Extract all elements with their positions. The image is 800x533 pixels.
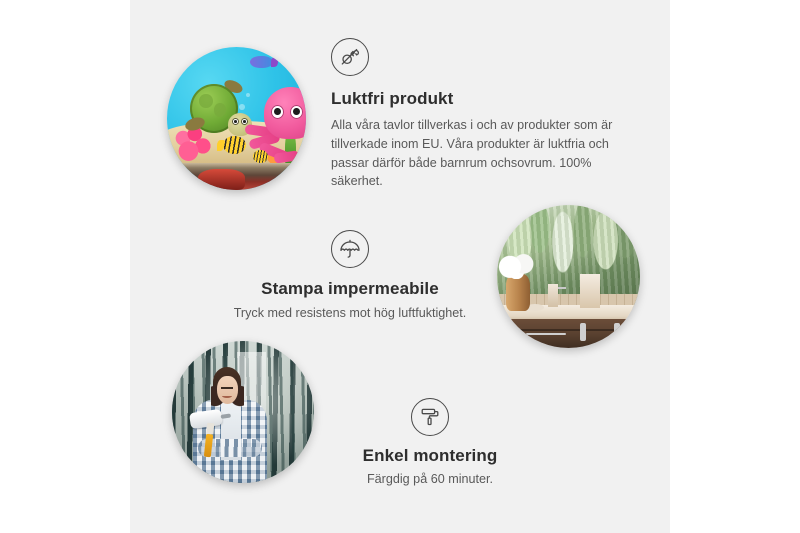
underwater-scene <box>167 47 306 190</box>
eyes <box>221 387 233 389</box>
cabinet-handle <box>526 333 566 334</box>
feature-title: Luktfri produkt <box>331 88 631 109</box>
infographic-page: Luktfri produkt Alla våra tavlor tillver… <box>0 0 800 533</box>
sea-turtle-icon <box>186 84 253 144</box>
feature-odorless: Luktfri produkt Alla våra tavlor tillver… <box>331 38 631 191</box>
wood-cabinet <box>497 319 640 348</box>
octopus-eye <box>271 105 285 120</box>
product-photo-forest <box>172 341 314 483</box>
feature-body: Tryck med resistens mot hög luftfuktighe… <box>205 304 495 323</box>
feature-body: Färgdig på 60 minuter. <box>300 470 560 489</box>
smile <box>222 393 232 397</box>
forest-scene <box>172 341 314 483</box>
feature-title: Stampa impermeabile <box>205 278 495 299</box>
paint-roller-icon <box>411 398 449 436</box>
decor-jar <box>580 274 600 308</box>
octopus-head <box>264 87 306 139</box>
feature-body: Alla våra tavlor tillverkas i och av pro… <box>331 116 631 191</box>
photo-bottom-strip <box>167 163 306 190</box>
octopus-eye <box>290 105 304 120</box>
turtle-eye <box>232 118 239 125</box>
blue-fish-icon <box>250 56 272 69</box>
umbrella-icon <box>331 230 369 268</box>
woman-figure <box>192 367 272 483</box>
bathroom-scene <box>497 205 640 348</box>
feature-title: Enkel montering <box>300 445 560 466</box>
cabinet-handle <box>580 323 586 340</box>
product-photo-underwater <box>167 47 306 190</box>
feature-waterproof: Stampa impermeabile Tryck med resistens … <box>205 230 495 323</box>
no-odor-perfume-bottle-icon <box>331 38 369 76</box>
face <box>217 376 238 404</box>
cabinet-handle <box>614 323 620 340</box>
feature-assembly: Enkel montering Färgdig på 60 minuter. <box>300 398 560 489</box>
product-photo-bathroom <box>497 205 640 348</box>
decor-jar <box>548 284 558 307</box>
white-flowers <box>498 252 538 279</box>
